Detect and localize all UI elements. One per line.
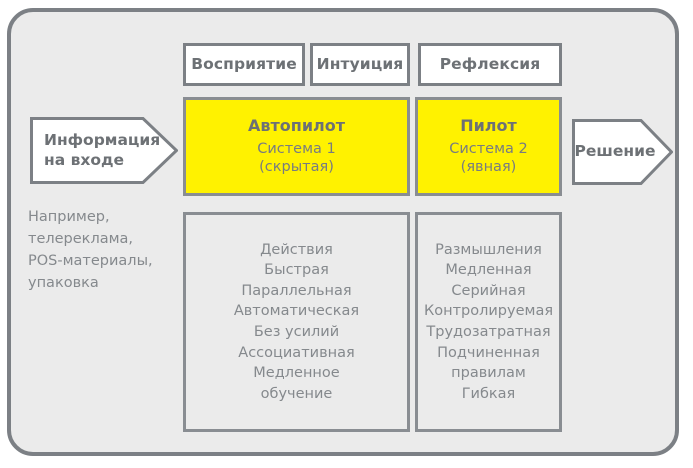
header-box-intuition: Интуиция <box>310 43 410 86</box>
attribute-item-system1-4: Без усилий <box>254 322 339 343</box>
attribute-item-system1-5: Ассоциативная <box>238 343 354 364</box>
system-autopilot-title: Автопилот <box>248 117 345 136</box>
attribute-item-system2-2: Серийная <box>451 281 525 302</box>
header-box-perception: Восприятие <box>183 43 305 86</box>
diagram-root: Восприятие Интуиция Рефлексия Автопилот … <box>0 0 693 468</box>
attributes-list-system2: РазмышленияМедленнаяСерийнаяКонтролируем… <box>418 240 559 405</box>
attribute-item-system2-0: Размышления <box>435 240 542 261</box>
input-arrow-icon <box>30 117 178 184</box>
header-box-perception-label: Восприятие <box>191 55 297 73</box>
attribute-item-system2-3: Контролируемая <box>424 301 553 322</box>
attribute-item-system1-0: Действия <box>260 240 333 261</box>
attributes-box-system2: РазмышленияМедленнаяСерийнаяКонтролируем… <box>415 212 562 432</box>
attributes-box-system1: ДействияБыстраяПараллельнаяАвтоматическа… <box>183 212 410 432</box>
system-autopilot-system-line: Система 1 <box>257 141 336 158</box>
header-box-reflection-label: Рефлексия <box>440 55 541 73</box>
attribute-item-system1-2: Параллельная <box>241 281 351 302</box>
header-box-intuition-label: Интуиция <box>317 55 404 73</box>
attribute-item-system2-1: Медленная <box>445 260 531 281</box>
output-arrow-icon <box>572 119 673 185</box>
system-box-pilot: Пилот Система 2 (явная) <box>415 97 562 196</box>
system-pilot-title: Пилот <box>460 117 517 136</box>
header-box-reflection: Рефлексия <box>418 43 562 86</box>
attribute-item-system2-6: Гибкая <box>462 384 516 405</box>
system-pilot-system-line: Система 2 <box>449 141 528 158</box>
attributes-list-system1: ДействияБыстраяПараллельнаяАвтоматическа… <box>186 240 407 405</box>
attribute-item-system2-5: Подчиненная правилам <box>437 343 540 384</box>
example-input-caption: Например, телереклама, POS-материалы, уп… <box>28 206 178 294</box>
output-arrow-shape <box>572 119 673 185</box>
system-box-autopilot: Автопилот Система 1 (скрытая) <box>183 97 410 196</box>
attribute-item-system1-6: Медленное обучение <box>253 363 339 404</box>
attribute-item-system2-4: Трудозатратная <box>426 322 550 343</box>
system-pilot-qualifier: (явная) <box>461 159 517 176</box>
attribute-item-system1-1: Быстрая <box>264 260 329 281</box>
system-autopilot-qualifier: (скрытая) <box>259 159 334 176</box>
attribute-item-system1-3: Автоматическая <box>234 301 359 322</box>
input-arrow-shape <box>30 117 178 184</box>
